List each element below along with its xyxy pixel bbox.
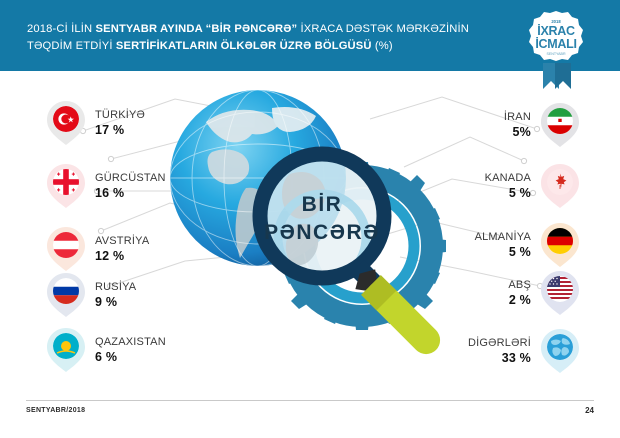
list-item-qazaxistan[interactable]: QAZAXISTAN 6 %: [46, 327, 166, 373]
title-line1-pre: 2018-Cİ İLİN: [27, 23, 96, 35]
list-item-text: KANADA 5 %: [485, 172, 531, 200]
footer-issue-label: SENTYABR/2018: [26, 407, 85, 414]
country-name: DİGƏRLƏRİ: [468, 337, 531, 349]
germany-flag-icon: [547, 228, 573, 254]
map-pin: [540, 163, 580, 209]
magnifier-label-line1: BİR: [302, 193, 343, 216]
center-illustration: BİR PƏNCƏRƏ: [150, 78, 480, 378]
infographic-page: 2018-Cİ İLİN SENTYABR AYINDA “BİR PƏNCƏR…: [0, 0, 620, 438]
title-line1-post: İXRACA DƏSTƏK MƏRKƏZİNİN: [301, 23, 469, 35]
badge-sub: SENTYABR: [546, 52, 566, 56]
georgia-flag-icon: [53, 169, 79, 195]
list-item-text: QAZAXISTAN 6 %: [95, 336, 166, 364]
map-pin: [46, 327, 86, 373]
list-item-turkiye[interactable]: TÜRKİYƏ 17 %: [46, 100, 145, 146]
page-title: 2018-Cİ İLİN SENTYABR AYINDA “BİR PƏNCƏR…: [27, 21, 477, 54]
country-value: 12 %: [95, 249, 149, 263]
page-number: 24: [585, 406, 594, 415]
badge-line2: İCMALI: [535, 36, 576, 51]
country-value: 2 %: [508, 293, 531, 307]
title-line2-pre: TƏQDİM ETDİYİ: [27, 40, 116, 52]
iran-flag-icon: [547, 108, 573, 134]
footer-divider: [26, 400, 594, 401]
list-item-rusiya[interactable]: RUSİYA 9 %: [46, 272, 136, 318]
country-value: 5 %: [475, 245, 531, 259]
list-item-text: AVSTRİYA 12 %: [95, 235, 149, 263]
title-line1-bold: SENTYABR AYINDA “BİR PƏNCƏRƏ”: [96, 23, 301, 35]
country-name: ALMANİYA: [475, 231, 531, 243]
list-item-text: İRAN 5%: [504, 111, 531, 139]
country-name: ABŞ: [508, 279, 531, 291]
list-item-text: ABŞ 2 %: [508, 279, 531, 307]
usa-flag-icon: [547, 276, 573, 302]
globe-icon: [547, 334, 573, 360]
list-item-kanada[interactable]: KANADA 5 %: [485, 163, 580, 209]
map-pin: [540, 102, 580, 148]
russia-flag-icon: [53, 278, 79, 304]
list-item-iran[interactable]: İRAN 5%: [504, 102, 580, 148]
list-item-gurcustan[interactable]: GÜRCÜSTAN 16 %: [46, 163, 166, 209]
map-pin: [46, 100, 86, 146]
list-item-text: GÜRCÜSTAN 16 %: [95, 172, 166, 200]
country-value: 5 %: [485, 186, 531, 200]
title-line2-post: (%): [375, 40, 393, 52]
canada-flag-icon: [547, 169, 573, 195]
list-item-text: RUSİYA 9 %: [95, 281, 136, 309]
list-item-almaniya[interactable]: ALMANİYA 5 %: [475, 222, 580, 268]
turkey-flag-icon: [53, 106, 79, 132]
country-name: KANADA: [485, 172, 531, 184]
list-item-abs[interactable]: ABŞ 2 %: [508, 270, 580, 316]
badge-line1: İXRAC: [537, 23, 575, 38]
list-item-text: TÜRKİYƏ 17 %: [95, 109, 145, 137]
country-value: 33 %: [468, 351, 531, 365]
country-name: İRAN: [504, 111, 531, 123]
country-value: 16 %: [95, 186, 166, 200]
title-line2-bold: SERTİFİKATLARIN ÖLKƏLƏR ÜZRƏ BÖLGÜSÜ: [116, 40, 375, 52]
list-item-avstriya[interactable]: AVSTRİYA 12 %: [46, 226, 149, 272]
country-value: 9 %: [95, 295, 136, 309]
austria-flag-icon: [53, 232, 79, 258]
country-name: QAZAXISTAN: [95, 336, 166, 348]
country-name: GÜRCÜSTAN: [95, 172, 166, 184]
list-item-text: ALMANİYA 5 %: [475, 231, 531, 259]
magnifier-label-line2: PƏNCƏRƏ: [264, 221, 380, 244]
map-pin: [46, 226, 86, 272]
kazakhstan-flag-icon: [53, 333, 79, 359]
map-pin: [46, 272, 86, 318]
map-pin: [540, 328, 580, 374]
list-item-digerleri[interactable]: DİGƏRLƏRİ 33 %: [468, 328, 580, 374]
country-name: TÜRKİYƏ: [95, 109, 145, 121]
map-pin: [540, 222, 580, 268]
list-item-text: DİGƏRLƏRİ 33 %: [468, 337, 531, 365]
country-value: 5%: [504, 125, 531, 139]
map-pin: [540, 270, 580, 316]
country-value: 17 %: [95, 123, 145, 137]
country-name: AVSTRİYA: [95, 235, 149, 247]
country-value: 6 %: [95, 350, 166, 364]
map-pin: [46, 163, 86, 209]
country-name: RUSİYA: [95, 281, 136, 293]
